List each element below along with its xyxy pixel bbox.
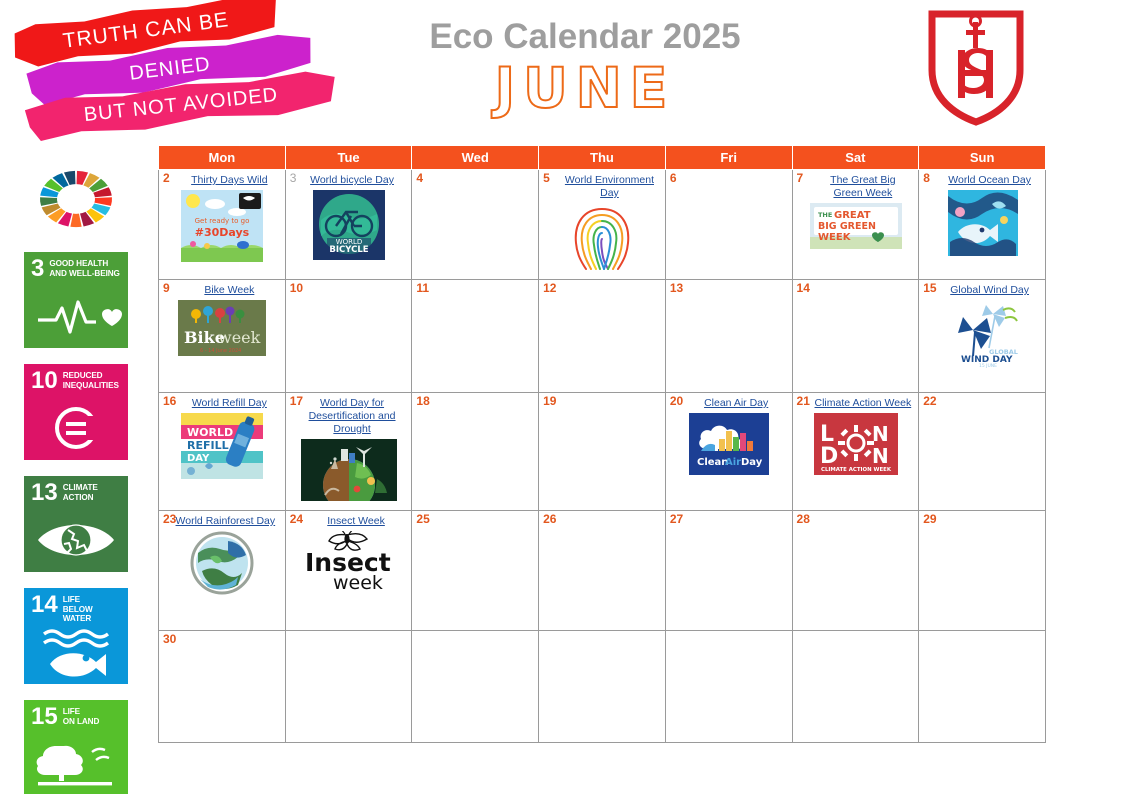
heartbeat-icon [24, 290, 128, 342]
calendar-week-row: 23 World Rainforest Day [159, 511, 1046, 631]
calendar-cell-5[interactable]: 5 World Environment Day [539, 170, 666, 280]
day-number: 18 [416, 395, 535, 408]
weekday-header-sat: Sat [792, 146, 919, 170]
event-link-world-bicycle-day[interactable]: World bicycle Day [294, 174, 405, 187]
calendar-cell-23[interactable]: 23 World Rainforest Day [159, 511, 286, 631]
day-number: 22 [923, 395, 1042, 408]
calendar-cell-3[interactable]: 3 World bicycle Day [285, 170, 412, 280]
eco-calendar-page: TRUTH CAN BE DENIED BUT NOT AVOIDED Eco … [0, 0, 1123, 794]
calendar-cell-empty[interactable] [919, 631, 1046, 743]
sdg-label-line2: ON LAND [63, 717, 100, 727]
sdg-number: 15 [31, 707, 58, 727]
day-number: 19 [543, 395, 662, 408]
day-number: 30 [163, 633, 282, 646]
calendar-cell-empty[interactable] [412, 631, 539, 743]
sdg-card-13: 13 CLIMATE ACTION [24, 476, 128, 572]
sdg-label-line2: AND WELL-BEING [49, 269, 119, 279]
svg-text:THE: THE [818, 211, 832, 219]
day-number: 4 [416, 172, 535, 185]
weekday-header-fri: Fri [665, 146, 792, 170]
calendar-cell-10[interactable]: 10 [285, 280, 412, 393]
event-link-thirty-days-wild[interactable]: Thirty Days Wild [167, 174, 278, 187]
calendar-cell-empty[interactable] [285, 631, 412, 743]
sdg-label-line2: ACTION [63, 493, 98, 503]
svg-text:week: week [333, 572, 383, 593]
calendar-cell-14[interactable]: 14 [792, 280, 919, 393]
event-link-global-wind-day[interactable]: Global Wind Day [927, 284, 1038, 297]
day-number: 6 [670, 172, 789, 185]
calendar-cell-18[interactable]: 18 [412, 393, 539, 511]
sdg-card-3: 3 GOOD HEALTH AND WELL-BEING [24, 252, 128, 348]
world-rainforest-day-image [188, 531, 256, 595]
calendar-cell-7[interactable]: 7 The Great Big Green Week THE GREAT BIG… [792, 170, 919, 280]
sdg-label-line1: GOOD HEALTH [49, 259, 119, 269]
sdg-label-line2: INEQUALITIES [63, 381, 119, 391]
sdg-label-line1: LIFE [63, 707, 100, 717]
calendar-cell-21[interactable]: 21 Climate Action Week L N D N [792, 393, 919, 511]
thirty-days-wild-image: Get ready to go #30Days [181, 190, 263, 262]
svg-text:REFILL: REFILL [187, 439, 229, 452]
calendar-cell-29[interactable]: 29 [919, 511, 1046, 631]
sdg-number: 10 [31, 371, 58, 391]
day-number: 14 [797, 282, 916, 295]
event-link-desertification-drought[interactable]: World Day for Desertification and Drough… [294, 397, 405, 436]
event-link-bike-week[interactable]: Bike Week [167, 284, 278, 297]
sdg-sidebar: 3 GOOD HEALTH AND WELL-BEING 10 REDUCED … [24, 160, 136, 794]
weekday-header-sun: Sun [919, 146, 1046, 170]
calendar-cell-16[interactable]: 16 World Refill Day WORLD REFILL DAY [159, 393, 286, 511]
svg-text:D: D [820, 444, 838, 469]
day-number: 29 [923, 513, 1042, 526]
calendar-cell-15[interactable]: 15 Global Wind Day [919, 280, 1046, 393]
calendar-cell-12[interactable]: 12 [539, 280, 666, 393]
weekday-header-thu: Thu [539, 146, 666, 170]
great-big-green-week-image: THE GREAT BIG GREEN WEEK [810, 203, 902, 249]
svg-text:week: week [218, 328, 261, 347]
svg-text:15 JUNE: 15 JUNE [979, 363, 997, 368]
event-link-world-ocean-day[interactable]: World Ocean Day [927, 174, 1038, 187]
sdg-number: 14 [31, 595, 58, 615]
day-number: 26 [543, 513, 662, 526]
calendar-cell-17[interactable]: 17 World Day for Desertification and Dro… [285, 393, 412, 511]
event-link-world-rainforest-day[interactable]: World Rainforest Day [167, 515, 278, 528]
svg-text:BICYCLE: BICYCLE [329, 245, 368, 255]
eco-calendar-table: Mon Tue Wed Thu Fri Sat Sun 2 Thirty Day… [158, 145, 1046, 743]
insect-week-image: Insect week [301, 531, 397, 593]
calendar-cell-11[interactable]: 11 [412, 280, 539, 393]
sdg-card-15: 15 LIFE ON LAND [24, 700, 128, 794]
truth-banner: TRUTH CAN BE DENIED BUT NOT AVOIDED [0, 2, 360, 138]
sdg-label-line1: CLIMATE [63, 483, 98, 493]
event-link-clean-air-day[interactable]: Clean Air Day [674, 397, 785, 410]
world-refill-day-image: WORLD REFILL DAY [181, 413, 263, 479]
svg-text:WORLD: WORLD [187, 426, 233, 439]
page-title: Eco Calendar 2025 [370, 16, 800, 58]
event-link-world-refill-day[interactable]: World Refill Day [167, 397, 278, 410]
calendar-cell-9[interactable]: 9 Bike Week [159, 280, 286, 393]
title-block: Eco Calendar 2025 JUNE [370, 16, 800, 118]
sdg-label-line2: BELOW WATER [63, 605, 122, 624]
svg-text:Clean: Clean [697, 457, 728, 468]
eye-globe-icon [24, 514, 128, 566]
bike-week-image: Bike week 6 - 14 June 2024 [178, 300, 266, 356]
svg-text:Day: Day [741, 457, 763, 468]
event-link-great-big-green-week[interactable]: The Great Big Green Week [801, 174, 912, 200]
calendar-week-row: 9 Bike Week [159, 280, 1046, 393]
event-link-climate-action-week[interactable]: Climate Action Week [801, 397, 912, 410]
svg-text:Air: Air [725, 457, 741, 468]
svg-text:CLIMATE ACTION WEEK: CLIMATE ACTION WEEK [821, 467, 892, 473]
sdg-label-line1: REDUCED [63, 371, 119, 381]
svg-text:N: N [872, 444, 889, 468]
calendar-cell-22[interactable]: 22 [919, 393, 1046, 511]
svg-text:BIG GREEN: BIG GREEN [818, 221, 876, 232]
calendar-cell-2[interactable]: 2 Thirty Days Wild Get ready to go #30Da… [159, 170, 286, 280]
month-title: JUNE [370, 58, 800, 118]
calendar-cell-30[interactable]: 30 [159, 631, 286, 743]
svg-text:#30Days: #30Days [195, 226, 250, 239]
event-link-world-environment-day[interactable]: World Environment Day [547, 174, 658, 200]
calendar-cell-4[interactable]: 4 [412, 170, 539, 280]
day-number: 12 [543, 282, 662, 295]
day-number: 13 [670, 282, 789, 295]
calendar-header-row: Mon Tue Wed Thu Fri Sat Sun [159, 146, 1046, 170]
calendar-cell-24[interactable]: 24 Insect Week [285, 511, 412, 631]
day-number: 11 [416, 282, 535, 295]
svg-text:GREAT: GREAT [834, 210, 871, 221]
calendar-cell-empty[interactable] [539, 631, 666, 743]
svg-text:N: N [872, 422, 889, 446]
calendar-cell-26[interactable]: 26 [539, 511, 666, 631]
sdg-label-line1: LIFE [63, 595, 122, 605]
world-bicycle-day-image: WORLD BICYCLE [313, 190, 385, 260]
event-link-insect-week[interactable]: Insect Week [294, 515, 405, 528]
day-number: 10 [290, 282, 409, 295]
calendar-cell-empty[interactable] [665, 631, 792, 743]
calendar-cell-6[interactable]: 6 [665, 170, 792, 280]
weekday-header-mon: Mon [159, 146, 286, 170]
svg-text:6 - 14 June 2024: 6 - 14 June 2024 [200, 348, 241, 354]
tree-birds-icon [24, 738, 128, 790]
calendar-cell-28[interactable]: 28 [792, 511, 919, 631]
day-number: 28 [797, 513, 916, 526]
school-crest-icon [922, 8, 1030, 126]
fish-waves-icon [24, 626, 128, 678]
day-number: 25 [416, 513, 535, 526]
sdg-number: 3 [31, 259, 44, 279]
clean-air-day-image: Clean Air Day [689, 413, 769, 475]
calendar-cell-19[interactable]: 19 [539, 393, 666, 511]
weekday-header-tue: Tue [285, 146, 412, 170]
calendar-cell-25[interactable]: 25 [412, 511, 539, 631]
desertification-drought-image [301, 439, 397, 501]
equals-circle-icon [24, 402, 128, 454]
world-ocean-day-image [948, 190, 1018, 256]
svg-text:DAY: DAY [187, 453, 210, 464]
sdg-colour-wheel-icon [24, 160, 128, 238]
calendar-week-row: 30 [159, 631, 1046, 743]
calendar-cell-13[interactable]: 13 [665, 280, 792, 393]
svg-text:Get ready to go: Get ready to go [195, 217, 250, 225]
sdg-card-14: 14 LIFE BELOW WATER [24, 588, 128, 684]
sdg-card-10: 10 REDUCED INEQUALITIES [24, 364, 128, 460]
london-climate-action-week-image: L N D N [814, 413, 898, 475]
calendar-cell-8[interactable]: 8 World Ocean Day [919, 170, 1046, 280]
svg-text:WEEK: WEEK [818, 232, 852, 243]
calendar-cell-empty[interactable] [792, 631, 919, 743]
sdg-number: 13 [31, 483, 58, 503]
global-wind-day-image: GLOBAL WIND DAY 15 JUNE [945, 300, 1021, 368]
calendar-cell-27[interactable]: 27 [665, 511, 792, 631]
day-number: 27 [670, 513, 789, 526]
calendar-week-row: 2 Thirty Days Wild Get ready to go #30Da… [159, 170, 1046, 280]
calendar-week-row: 16 World Refill Day WORLD REFILL DAY [159, 393, 1046, 511]
calendar-cell-20[interactable]: 20 Clean Air Day [665, 393, 792, 511]
weekday-header-wed: Wed [412, 146, 539, 170]
world-environment-day-image [566, 203, 638, 271]
